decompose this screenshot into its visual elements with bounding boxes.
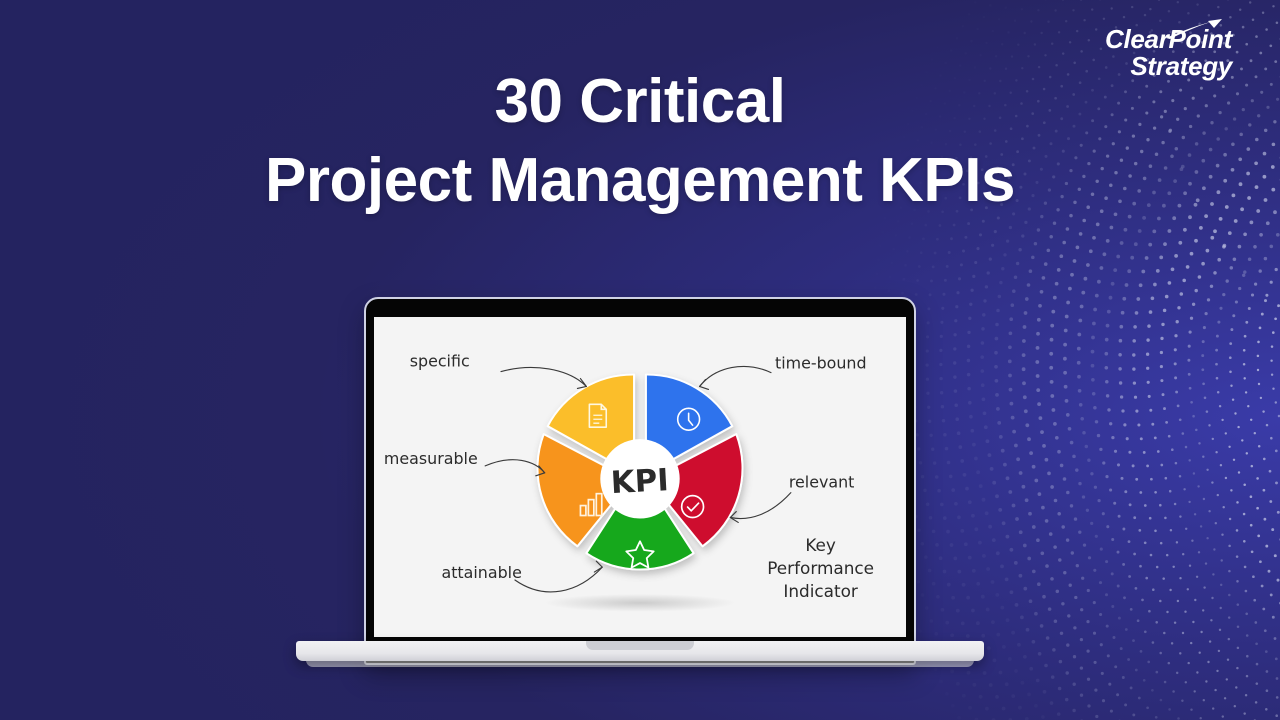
arrow-attainable [515,567,602,592]
caption-line-3: Indicator [783,581,858,601]
page-title: 30 Critical Project Management KPIs [0,62,1280,221]
arrow-specific [501,367,586,386]
chart-center-label: KPI [610,462,670,501]
laptop-mockup: KPI [296,297,984,687]
label-specific: specific [410,352,470,371]
laptop-lid: KPI [364,297,916,665]
laptop-base-highlight [306,660,974,667]
label-time-bound: time-bound [775,354,867,373]
laptop-screen: KPI [374,317,906,637]
label-attainable: attainable [441,563,521,582]
kpi-pie-chart: KPI [374,317,906,637]
title-line-2: Project Management KPIs [0,141,1280,220]
arrow-time-bound [700,366,771,386]
title-line-1: 30 Critical [0,62,1280,141]
laptop-base [296,641,984,661]
swoosh-icon [1164,18,1226,40]
chart-ground-shadow [545,594,736,612]
caption-line-1: Key [805,535,836,555]
arrow-measurable [485,460,545,473]
label-measurable: measurable [384,449,478,468]
chart-caption: Key Performance Indicator [767,535,874,601]
arrow-relevant [730,493,791,519]
label-relevant: relevant [789,473,855,492]
caption-line-2: Performance [767,558,874,578]
